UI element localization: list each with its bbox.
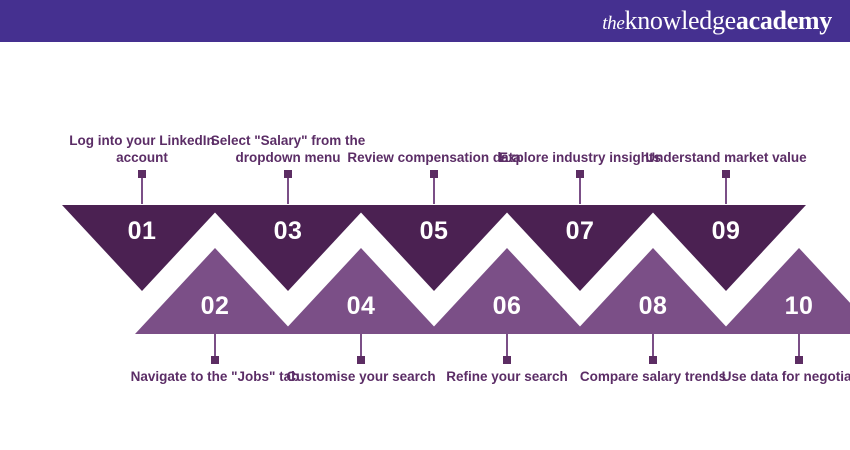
brand-logo-academy: academy <box>736 6 832 35</box>
brand-logo-the: the <box>602 13 624 34</box>
brand-logo-knowledge: knowledge <box>625 6 736 35</box>
step-number: 10 <box>719 292 850 321</box>
process-step[interactable]: 10Use data for negotiation <box>719 42 850 450</box>
process-diagram: 01Log into your LinkedIn account02Naviga… <box>0 42 850 450</box>
connector-dot <box>795 356 803 364</box>
step-triangle[interactable]: 10 <box>719 248 850 336</box>
brand-logo: theknowledgeacademy <box>602 8 832 34</box>
step-label: Use data for negotiation <box>705 368 850 385</box>
header-bar: theknowledgeacademy <box>0 0 850 42</box>
